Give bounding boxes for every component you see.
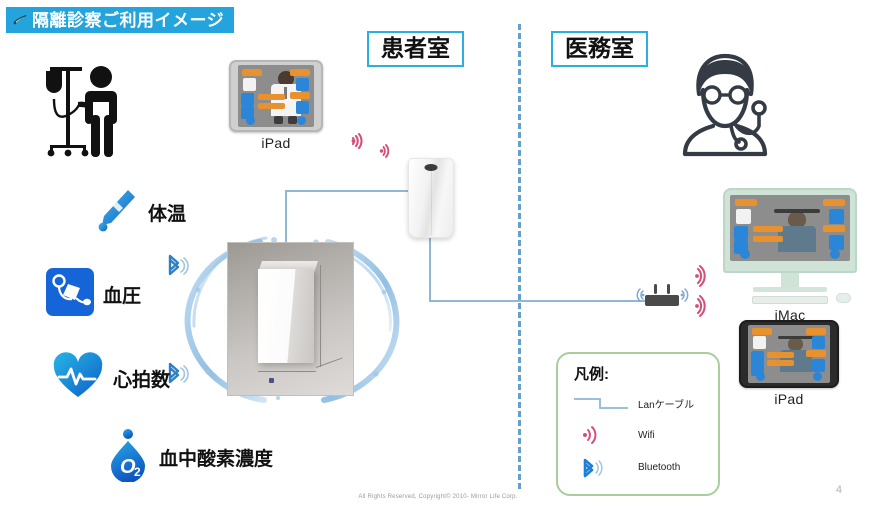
legend-item-wifi: Wifi xyxy=(572,424,655,446)
vital-badge xyxy=(735,199,757,206)
patient-with-iv-stand-icon xyxy=(26,57,122,161)
patient-head-graphic xyxy=(788,337,803,351)
bluetooth-icon xyxy=(160,250,190,285)
blood-pressure-cuff-icon xyxy=(46,268,94,321)
vital-value-readout xyxy=(753,236,783,242)
imac-screen-telehealth xyxy=(730,195,850,261)
vital-blood-pressure: 血圧 xyxy=(46,268,141,321)
doctor-leg-graphic xyxy=(274,116,283,124)
device-label-ipad-medical: iPad xyxy=(739,391,839,407)
vital-tile-spo2 xyxy=(812,336,825,349)
vital-tile-temperature xyxy=(736,209,751,224)
bed-frame-graphic xyxy=(778,336,816,339)
vital-tile-hr xyxy=(296,101,309,114)
vital-tile-temperature xyxy=(753,336,766,349)
router-body xyxy=(645,295,679,306)
vital-tile-temperature xyxy=(243,78,256,91)
measurement-machine-photo xyxy=(228,243,353,395)
wifi-waves-icon xyxy=(380,140,402,162)
dimension-line xyxy=(320,265,321,367)
vital-tile-bp xyxy=(241,93,254,106)
router-antenna xyxy=(654,284,657,294)
tablet-screen-telehealth xyxy=(748,325,830,383)
status-dot xyxy=(756,372,765,381)
legend-title: 凡例: xyxy=(574,363,609,384)
wifi-router-icon[interactable] xyxy=(645,284,679,306)
wifi-waves-icon xyxy=(695,262,721,290)
page-number: 4 xyxy=(836,484,842,496)
slide-title-text: 隔離診察ご利用イメージ xyxy=(32,12,224,29)
bluetooth-signal-left-icon xyxy=(630,286,644,304)
status-dot xyxy=(830,249,840,259)
room-label-medical: 医務室 xyxy=(551,31,648,67)
vital-badge xyxy=(823,199,845,206)
legend-item-bluetooth: Bluetooth xyxy=(572,456,680,478)
tablet-shell xyxy=(739,320,839,388)
router-antenna xyxy=(667,284,670,294)
vital-badge xyxy=(806,350,826,357)
status-dot xyxy=(297,116,306,125)
vital-label-heart-rate: 心拍数 xyxy=(113,365,170,392)
vital-badge xyxy=(242,69,262,76)
device-ipad-patient[interactable]: iPad xyxy=(229,60,323,151)
vital-tile-spo2 xyxy=(296,78,309,91)
legend-item-lan: Lanケーブル xyxy=(572,392,694,414)
vital-value-readout xyxy=(767,360,794,366)
vital-value-readout xyxy=(767,352,794,358)
vital-tile-bp xyxy=(734,226,748,240)
lan-cable-segment xyxy=(285,190,287,250)
vital-temperature: 体温 xyxy=(95,186,186,239)
wifi-waves-icon xyxy=(572,424,630,446)
imac-stand-neck xyxy=(781,273,799,287)
vital-badge xyxy=(290,92,310,99)
lan-cable-segment xyxy=(285,190,411,192)
lan-cable-line-icon xyxy=(572,392,630,414)
keyboard-icon xyxy=(752,296,828,304)
bluetooth-icon xyxy=(572,456,630,478)
svg-text:2: 2 xyxy=(134,465,141,479)
tablet-shell xyxy=(229,60,323,132)
legend-label-lan: Lanケーブル xyxy=(638,396,694,411)
heart-pulse-icon xyxy=(52,352,104,405)
tower-body xyxy=(408,158,454,238)
vital-tile-hr xyxy=(812,359,825,372)
imac-stand-foot xyxy=(753,287,827,292)
tablet-screen-telehealth xyxy=(238,65,314,127)
vital-value-readout xyxy=(753,226,783,232)
status-dot xyxy=(813,372,822,381)
mouse-icon xyxy=(836,293,851,303)
machine-body xyxy=(258,269,314,363)
doctor-leg-graphic xyxy=(288,116,297,124)
oxygen-droplet-icon: O 2 xyxy=(106,428,150,487)
vital-spo2: O 2 血中酸素濃度 xyxy=(106,428,273,487)
vital-badge xyxy=(806,328,826,335)
vital-label-spo2: 血中酸素濃度 xyxy=(159,444,273,471)
room-divider xyxy=(518,24,521,489)
wifi-waves-icon xyxy=(695,292,721,320)
status-dot xyxy=(246,116,255,125)
dimension-line xyxy=(258,371,316,372)
lan-cable-segment xyxy=(429,233,431,301)
wifi-tower-router-icon[interactable] xyxy=(408,158,452,236)
vital-label-blood-pressure: 血圧 xyxy=(103,281,141,308)
thermometer-icon xyxy=(95,186,139,239)
legend-box: 凡例: Lanケーブル Wifi xyxy=(556,352,720,496)
tower-edge xyxy=(431,167,432,235)
machine-led xyxy=(269,378,274,383)
pen-tag-icon xyxy=(12,11,30,29)
slide-title-banner: 隔離診察ご利用イメージ xyxy=(6,7,234,33)
doctor-with-stethoscope-icon xyxy=(673,50,777,160)
wifi-waves-icon xyxy=(352,128,378,154)
vital-badge xyxy=(752,328,772,335)
vital-tile-spo2 xyxy=(829,209,844,224)
device-label-ipad-patient: iPad xyxy=(229,135,323,151)
vital-tile-hr xyxy=(829,235,844,250)
vital-value-readout xyxy=(258,103,285,109)
slide-canvas: 隔離診察ご利用イメージ 患者室 医務室 xyxy=(0,0,876,509)
vital-label-temperature: 体温 xyxy=(148,199,186,226)
lan-cable-segment xyxy=(429,300,655,302)
status-dot xyxy=(740,249,750,259)
device-imac[interactable]: iMac xyxy=(723,188,857,323)
legend-label-bluetooth: Bluetooth xyxy=(638,462,680,473)
bluetooth-signal-right-icon xyxy=(681,286,695,304)
bed-frame-graphic xyxy=(774,209,820,213)
vital-badge xyxy=(823,225,845,232)
room-label-patient: 患者室 xyxy=(367,31,464,67)
legend-label-wifi: Wifi xyxy=(638,430,655,441)
vital-value-readout xyxy=(258,94,285,100)
footer-copyright: All Rights Reserved, Copyright© 2010- Mi… xyxy=(0,494,876,500)
vital-badge xyxy=(290,69,310,76)
device-ipad-medical[interactable]: iPad xyxy=(739,320,839,407)
imac-shell xyxy=(723,188,857,273)
patient-body-graphic xyxy=(778,226,816,252)
vital-heart-rate: 心拍数 xyxy=(52,352,170,405)
